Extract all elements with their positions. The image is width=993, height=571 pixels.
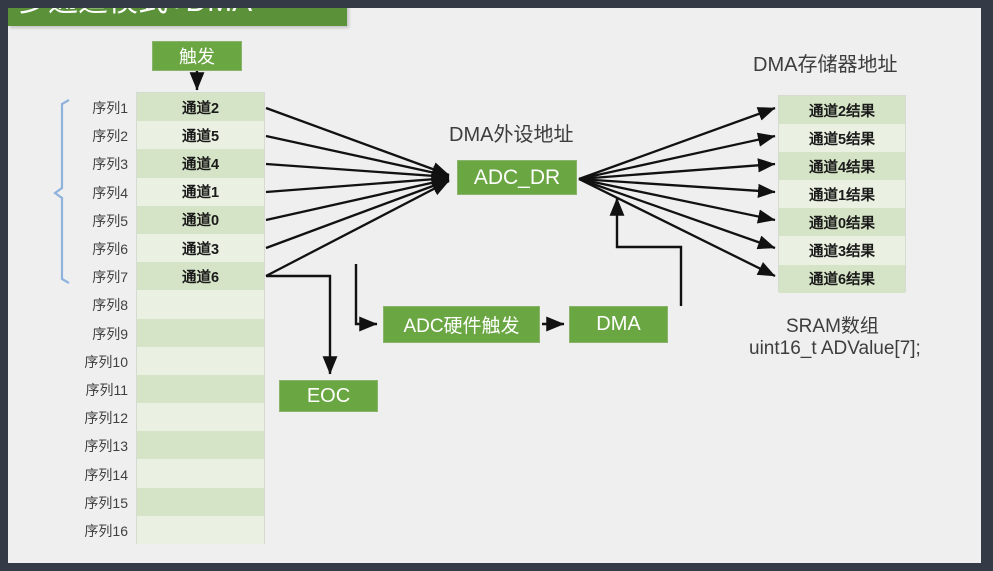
sequence-row-label: 序列6 (66, 239, 128, 259)
dma-memory-row[interactable]: 通道2结果 (779, 96, 905, 124)
adc-dr-label: ADC_DR (474, 166, 560, 190)
sequence-table-row[interactable] (137, 403, 264, 431)
dma-box[interactable]: DMA (569, 306, 668, 343)
sequence-table-row[interactable]: 通道4 (137, 149, 264, 177)
sequence-row-label: 序列16 (66, 521, 128, 541)
dma-memory-address-caption: DMA存储器地址 (753, 48, 897, 77)
sequence-row-label: 序列5 (66, 211, 128, 231)
arrow-sequence-to-eoc (266, 276, 330, 374)
sequence-table-row[interactable] (137, 347, 264, 375)
adc-hardware-trigger-label: ADC硬件触发 (403, 311, 519, 338)
dma-peripheral-address-caption: DMA外设地址 (449, 118, 573, 147)
dma-memory-row[interactable]: 通道1结果 (779, 180, 905, 208)
sequence-table-row[interactable] (137, 290, 264, 318)
arrow-to-hardware-trigger (356, 264, 377, 324)
sequence-row-label: 序列7 (66, 267, 128, 287)
page-title: 多通道模式+DMA (18, 8, 252, 22)
sram-declaration: uint16_t ADValue[7]; (749, 338, 921, 360)
adc-hardware-trigger-box[interactable]: ADC硬件触发 (383, 306, 540, 343)
adc-dr-box[interactable]: ADC_DR (457, 160, 577, 195)
arrows-adcdr-to-memory (579, 108, 775, 276)
sequence-table-row[interactable] (137, 488, 264, 516)
dma-memory-row[interactable]: 通道3结果 (779, 236, 905, 264)
sequence-table-row[interactable]: 通道3 (137, 234, 264, 262)
sequence-table-row[interactable] (137, 431, 264, 459)
dma-memory-row[interactable]: 通道0结果 (779, 208, 905, 236)
sequence-table-row[interactable]: 通道5 (137, 121, 264, 149)
sequence-row-label: 序列4 (66, 183, 128, 203)
dma-label: DMA (596, 313, 640, 336)
dma-memory-row[interactable]: 通道4结果 (779, 152, 905, 180)
sram-array-caption: SRAM数组 (786, 311, 879, 338)
sequence-table-row[interactable] (137, 319, 264, 347)
sequence-table-row[interactable] (137, 459, 264, 487)
arrow-dma-to-adcdr (617, 198, 681, 306)
dma-memory-row[interactable]: 通道5结果 (779, 124, 905, 152)
sequence-row-label: 序列1 (66, 98, 128, 118)
sequence-row-label: 序列2 (66, 126, 128, 146)
slide-title-bar: 多通道模式+DMA (8, 8, 347, 26)
slide-canvas: 多通道模式+DMA 触发 序列1序列2序列3序列4序列5序列6序列7序列8序列9… (8, 8, 981, 563)
sequence-table-row[interactable] (137, 375, 264, 403)
sequence-table-row[interactable]: 通道0 (137, 206, 264, 234)
sequence-row-label: 序列13 (66, 436, 128, 456)
dma-memory-row[interactable]: 通道6结果 (779, 265, 905, 293)
eoc-box[interactable]: EOC (279, 380, 378, 412)
sequence-table-row[interactable]: 通道2 (137, 93, 264, 121)
sequence-table-row[interactable]: 通道1 (137, 178, 264, 206)
sequence-table-row[interactable] (137, 516, 264, 544)
trigger-box-label: 触发 (179, 43, 215, 69)
dma-memory-table: 通道2结果通道5结果通道4结果通道1结果通道0结果通道3结果通道6结果 (778, 95, 906, 292)
arrows-channels-to-adcdr (266, 108, 449, 276)
sequence-row-label: 序列11 (66, 380, 128, 400)
sequence-table: 通道2通道5通道4通道1通道0通道3通道6 (136, 92, 265, 544)
sequence-table-row[interactable]: 通道6 (137, 262, 264, 290)
sequence-row-label: 序列8 (66, 295, 128, 315)
sequence-row-label: 序列14 (66, 465, 128, 485)
sequence-row-label: 序列12 (66, 408, 128, 428)
sequence-row-label: 序列10 (66, 352, 128, 372)
sequence-row-label: 序列15 (66, 493, 128, 513)
sequence-row-label: 序列3 (66, 154, 128, 174)
trigger-box[interactable]: 触发 (152, 41, 242, 71)
eoc-label: EOC (307, 385, 350, 408)
sequence-row-label: 序列9 (66, 324, 128, 344)
